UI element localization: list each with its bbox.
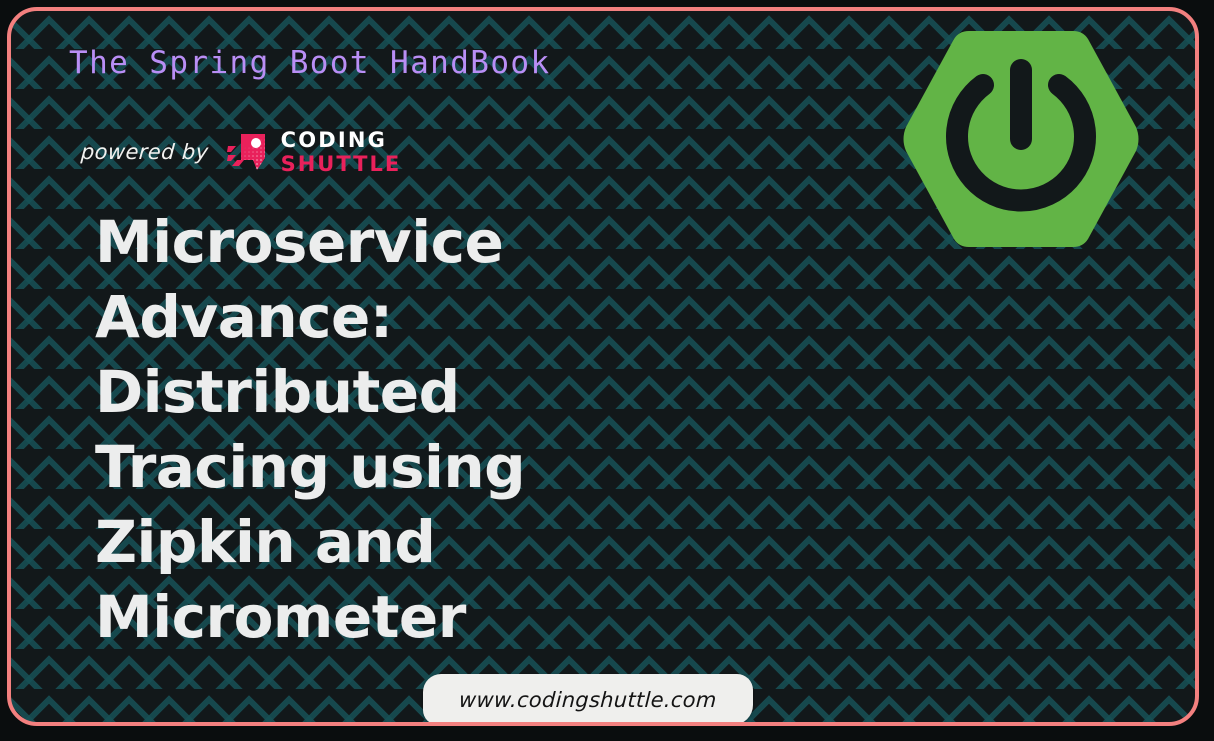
- slide-root: The Spring Boot HandBook powered by: [0, 0, 1214, 741]
- headline-line: Zipkin and: [95, 505, 615, 580]
- slide-canvas: The Spring Boot HandBook powered by: [9, 9, 1197, 724]
- page-title: The Spring Boot HandBook: [69, 45, 551, 81]
- spring-boot-logo-icon: [897, 23, 1145, 255]
- headline-line: Distributed: [95, 355, 615, 430]
- coding-shuttle-wordmark: CODING SHUTTLE: [281, 130, 402, 175]
- coding-shuttle-logo: CODING SHUTTLE: [227, 130, 402, 174]
- website-url-text: www.codingshuttle.com: [459, 688, 718, 712]
- website-url-badge[interactable]: www.codingshuttle.com: [423, 674, 753, 724]
- brand-line-shuttle: SHUTTLE: [281, 154, 402, 175]
- powered-by-label: powered by: [80, 140, 209, 164]
- powered-by-row: powered by: [81, 130, 401, 174]
- headline-line: Advance:: [95, 280, 615, 355]
- headline: Microservice Advance: Distributed Tracin…: [95, 205, 615, 655]
- coding-shuttle-mark-icon: [227, 130, 271, 174]
- headline-line: Tracing using: [95, 430, 615, 505]
- headline-line: Microservice: [95, 205, 615, 280]
- headline-line: Micrometer: [95, 580, 615, 655]
- brand-line-coding: CODING: [281, 130, 402, 151]
